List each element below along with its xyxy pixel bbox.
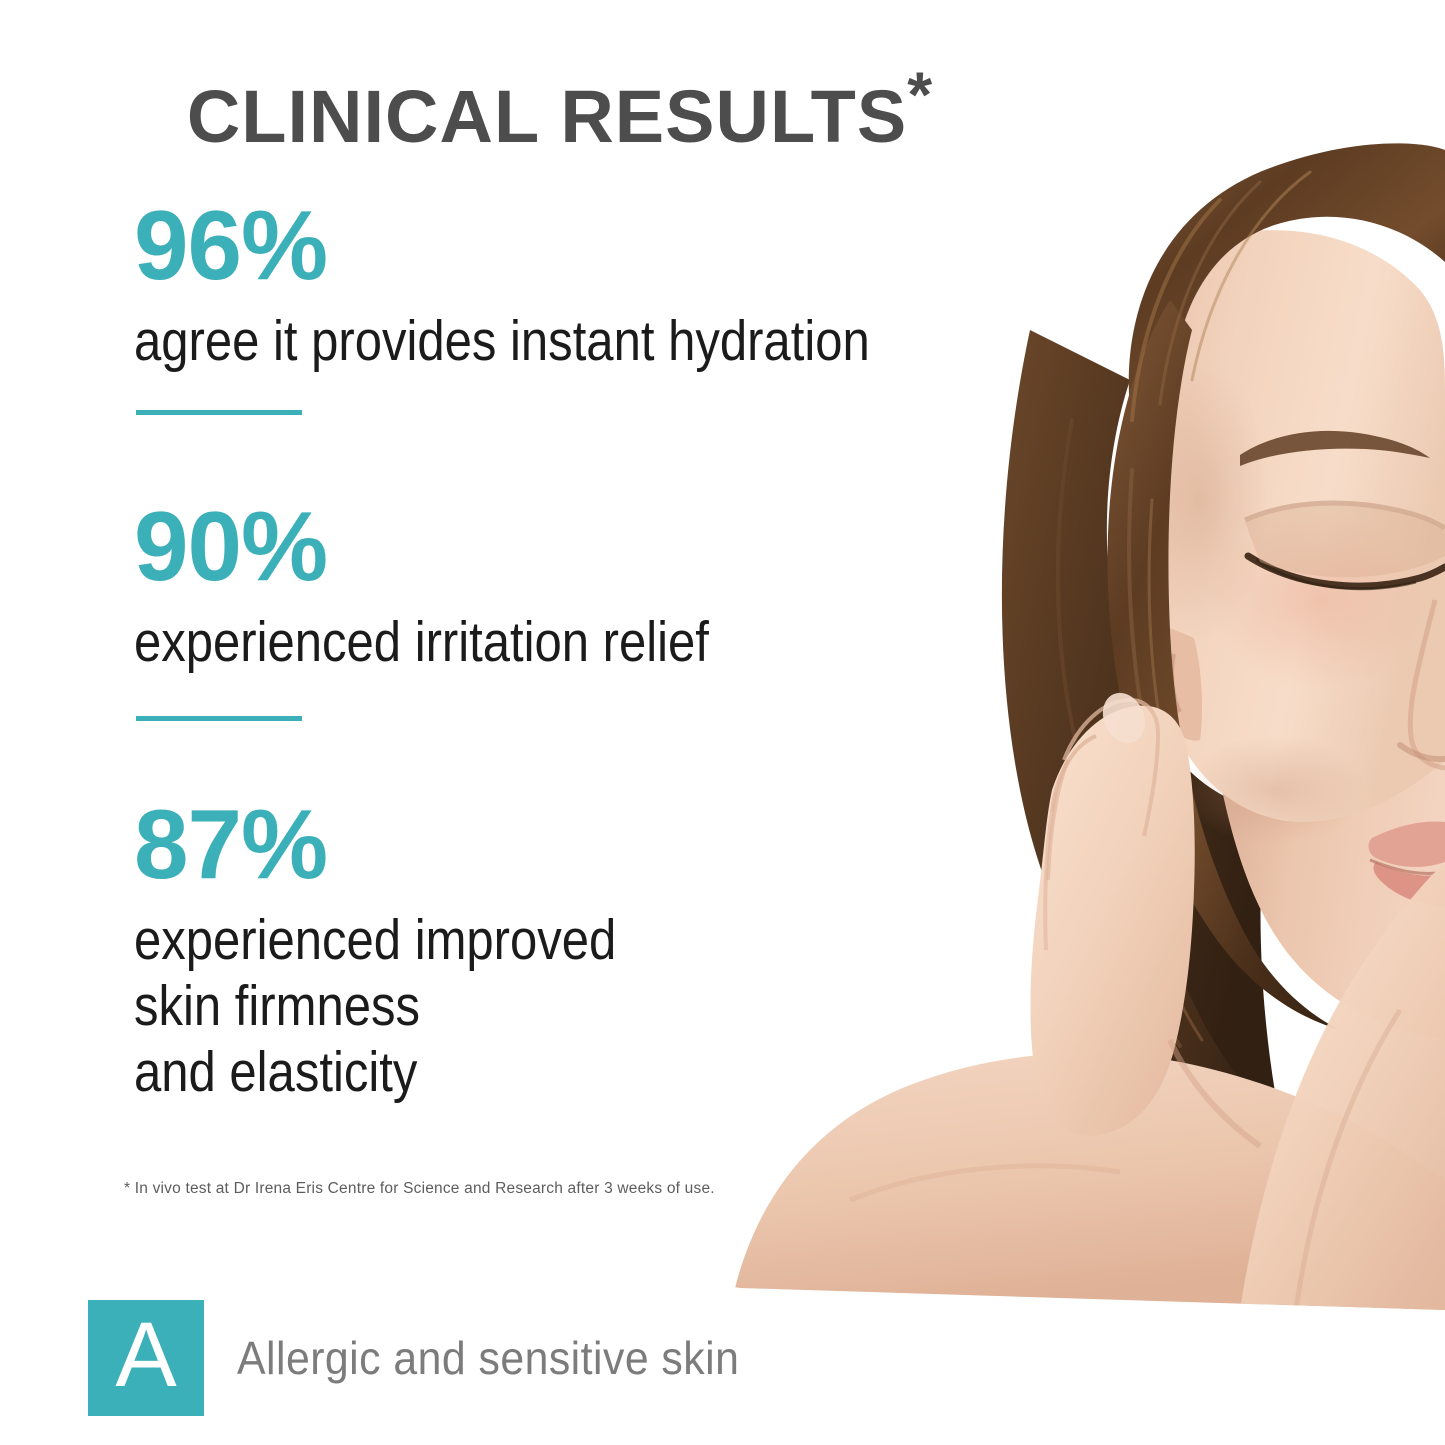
stat-line: skin firmness <box>134 973 616 1039</box>
page-title: CLINICAL RESULTS* <box>0 74 1120 159</box>
page-title-text: CLINICAL RESULTS <box>187 75 907 158</box>
stat-description: experienced irritation relief <box>134 609 803 675</box>
allergic-skin-badge: A Allergic and sensitive skin <box>88 1300 777 1416</box>
badge-square-icon: A <box>88 1300 204 1416</box>
stat-block-irritation: 90% experienced irritation relief <box>134 497 803 675</box>
badge-label: Allergic and sensitive skin <box>237 1331 739 1385</box>
footnote-text: * In vivo test at Dr Irena Eris Centre f… <box>124 1180 715 1198</box>
stat-line: experienced improved <box>134 907 616 973</box>
stat-block-firmness: 87% experienced improved skin firmness a… <box>134 795 695 1105</box>
jaw-shading <box>1185 735 1365 845</box>
infographic-page: CLINICAL RESULTS* 96% agree it provides … <box>0 0 1445 1445</box>
stat-divider <box>136 716 302 721</box>
stat-description: experienced improved skin firmness and e… <box>134 907 695 1105</box>
stat-percent: 90% <box>134 497 803 595</box>
stat-percent: 96% <box>134 196 990 294</box>
stat-percent: 87% <box>134 795 695 893</box>
stat-divider <box>136 410 302 415</box>
title-asterisk: * <box>907 58 933 130</box>
stat-line: agree it provides instant hydration <box>134 308 870 374</box>
stat-line: and elasticity <box>134 1039 616 1105</box>
stat-block-hydration: 96% agree it provides instant hydration <box>134 196 990 374</box>
stat-line: experienced irritation relief <box>134 609 709 675</box>
badge-letter: A <box>115 1309 176 1401</box>
stat-description: agree it provides instant hydration <box>134 308 990 374</box>
